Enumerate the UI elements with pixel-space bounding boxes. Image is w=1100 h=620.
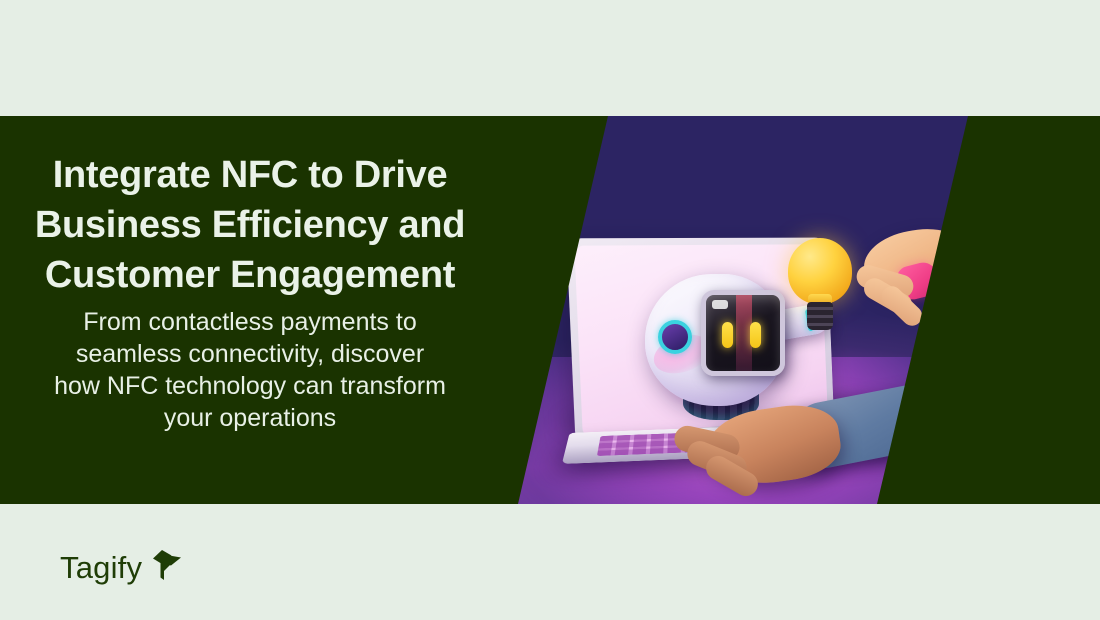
subhead-line-1: From contactless payments to [83,308,416,336]
subhead-line-4: your operations [164,404,336,432]
headline-line-1: Integrate NFC to Drive [53,154,448,196]
robot-eye-left [722,322,733,348]
bulb-base [807,302,833,330]
subhead-line-3: how NFC technology can transform [54,372,446,400]
banner-copy: Integrate NFC to Drive Business Efficien… [24,150,476,434]
robot-eye-right [750,322,761,348]
robot-visor [701,290,785,376]
visor-highlight [712,300,728,309]
subhead-line-2: seamless connectivity, discover [76,340,424,368]
page-title: Integrate NFC to Drive Business Efficien… [24,150,476,300]
tagify-arrow-mark-icon [152,548,182,587]
headline-line-3: Customer Engagement [45,254,455,296]
logo-wordmark: Tagify [60,552,142,583]
brand-logo[interactable]: Tagify [60,548,182,587]
robot-ear [658,320,692,354]
light-bulb-icon [788,238,852,334]
promo-banner: Integrate NFC to Drive Business Efficien… [0,0,1100,620]
headline-line-2: Business Efficiency and [35,204,465,246]
page-subtitle: From contactless payments to seamless co… [24,306,476,434]
